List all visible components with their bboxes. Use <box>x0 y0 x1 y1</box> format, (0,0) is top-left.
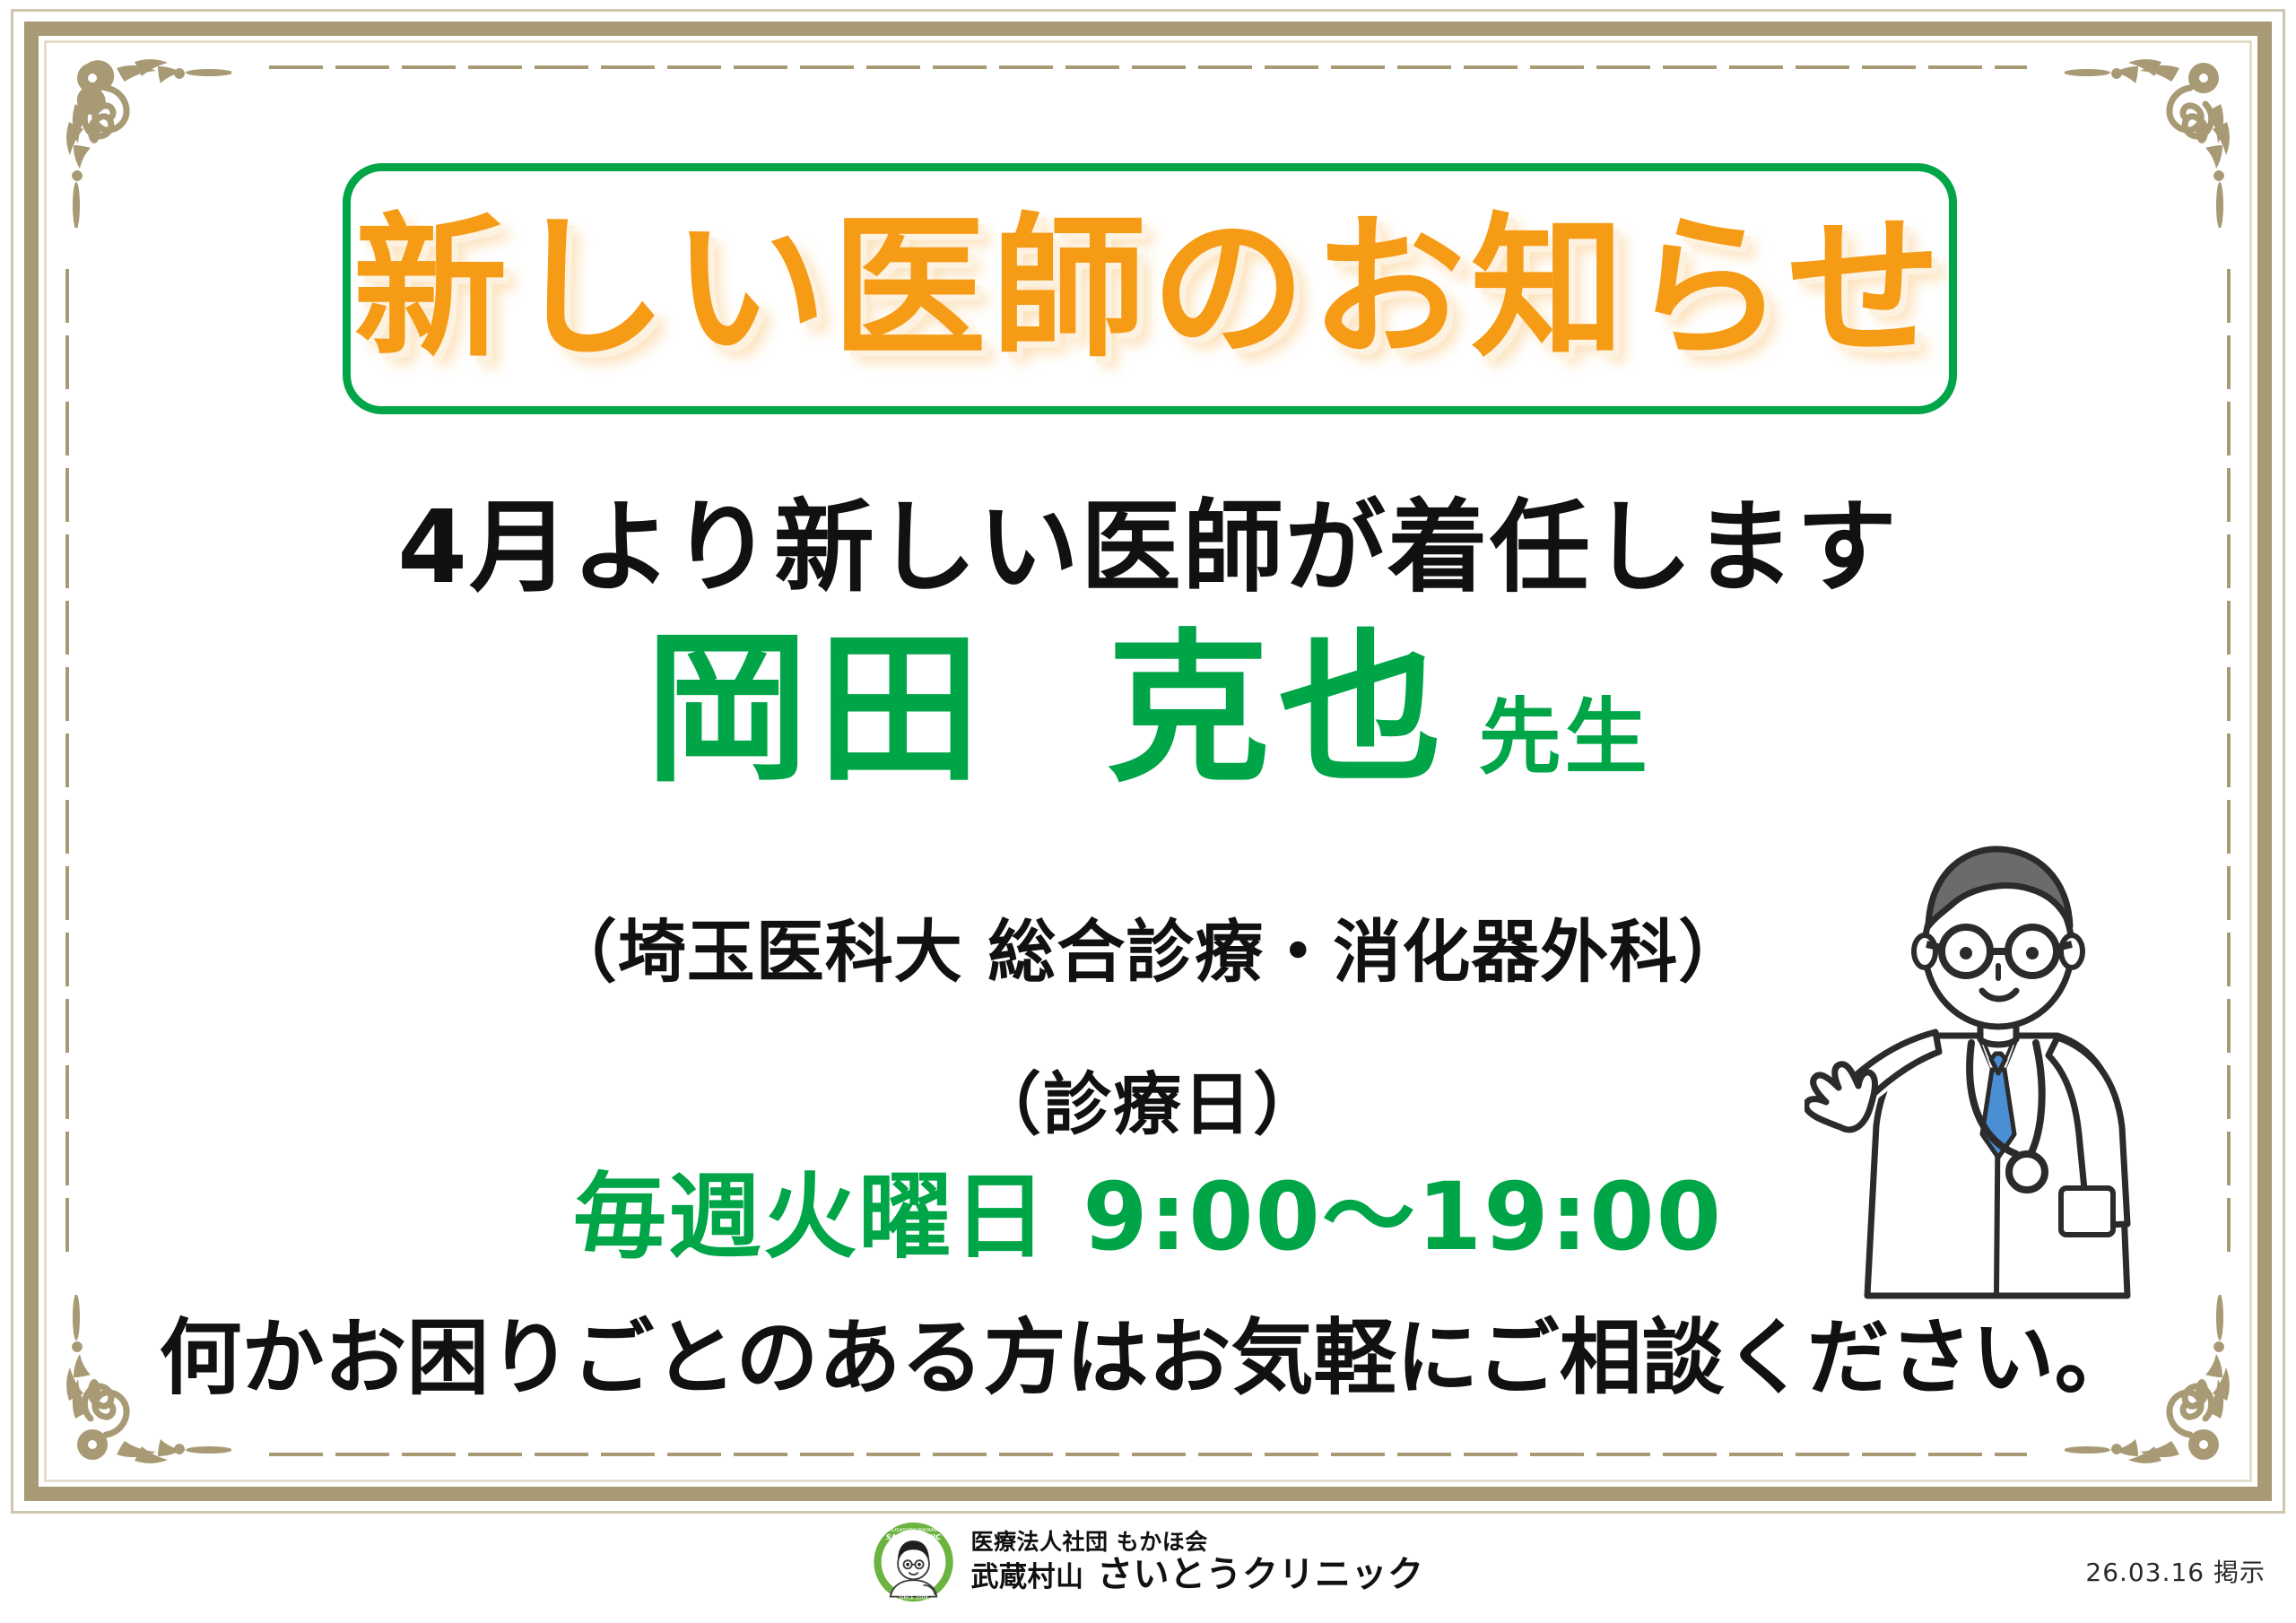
title-banner: 新しい医師のお知らせ <box>343 163 1957 414</box>
clinic-name-block: 医療法人社団 もかほ会 武蔵村山 さいとうクリニック <box>971 1530 1424 1594</box>
clinic-locality: 武蔵村山 <box>971 1561 1084 1593</box>
doctor-name-row: 岡田 克也 先生 <box>0 628 2296 791</box>
clinic-branding: MUSASHIMURAYAMA SAITO CLINIC SINCE 2008 … <box>873 1521 1424 1603</box>
doctor-honorific: 先生 <box>1479 690 1651 785</box>
footer: MUSASHIMURAYAMA SAITO CLINIC SINCE 2008 … <box>0 1510 2296 1609</box>
clinic-name: 武蔵村山 さいとうクリニック <box>971 1556 1424 1594</box>
doctor-illustration-icon <box>1805 811 2190 1314</box>
posted-date: 26.03.16 掲示 <box>2085 1553 2266 1589</box>
page-title: 新しい医師のお知らせ <box>353 212 1947 366</box>
corner-flourish-icon <box>2065 48 2244 228</box>
logo-bottom-text: SINCE 2008 <box>899 1595 928 1601</box>
doctor-family-name: 岡田 <box>645 614 989 804</box>
clinic-organization: 医療法人社団 もかほ会 <box>971 1530 1424 1554</box>
doctor-given-name: 克也 <box>1107 614 1451 804</box>
frame-rail-top <box>269 65 2027 69</box>
clinic-logo-icon: MUSASHIMURAYAMA SAITO CLINIC SINCE 2008 <box>873 1521 955 1603</box>
poster-root: 新しい医師のお知らせ 4月より新しい医師が着任します 岡田 克也 先生 （埼玉医… <box>0 0 2296 1623</box>
corner-flourish-icon <box>52 48 231 228</box>
logo-main-text: SAITO CLINIC <box>886 1532 941 1541</box>
announcement-line: 4月より新しい医師が着任します <box>0 466 2296 612</box>
clinic-title: さいとうクリニック <box>1097 1554 1424 1595</box>
frame-rail-bottom <box>269 1453 2027 1456</box>
